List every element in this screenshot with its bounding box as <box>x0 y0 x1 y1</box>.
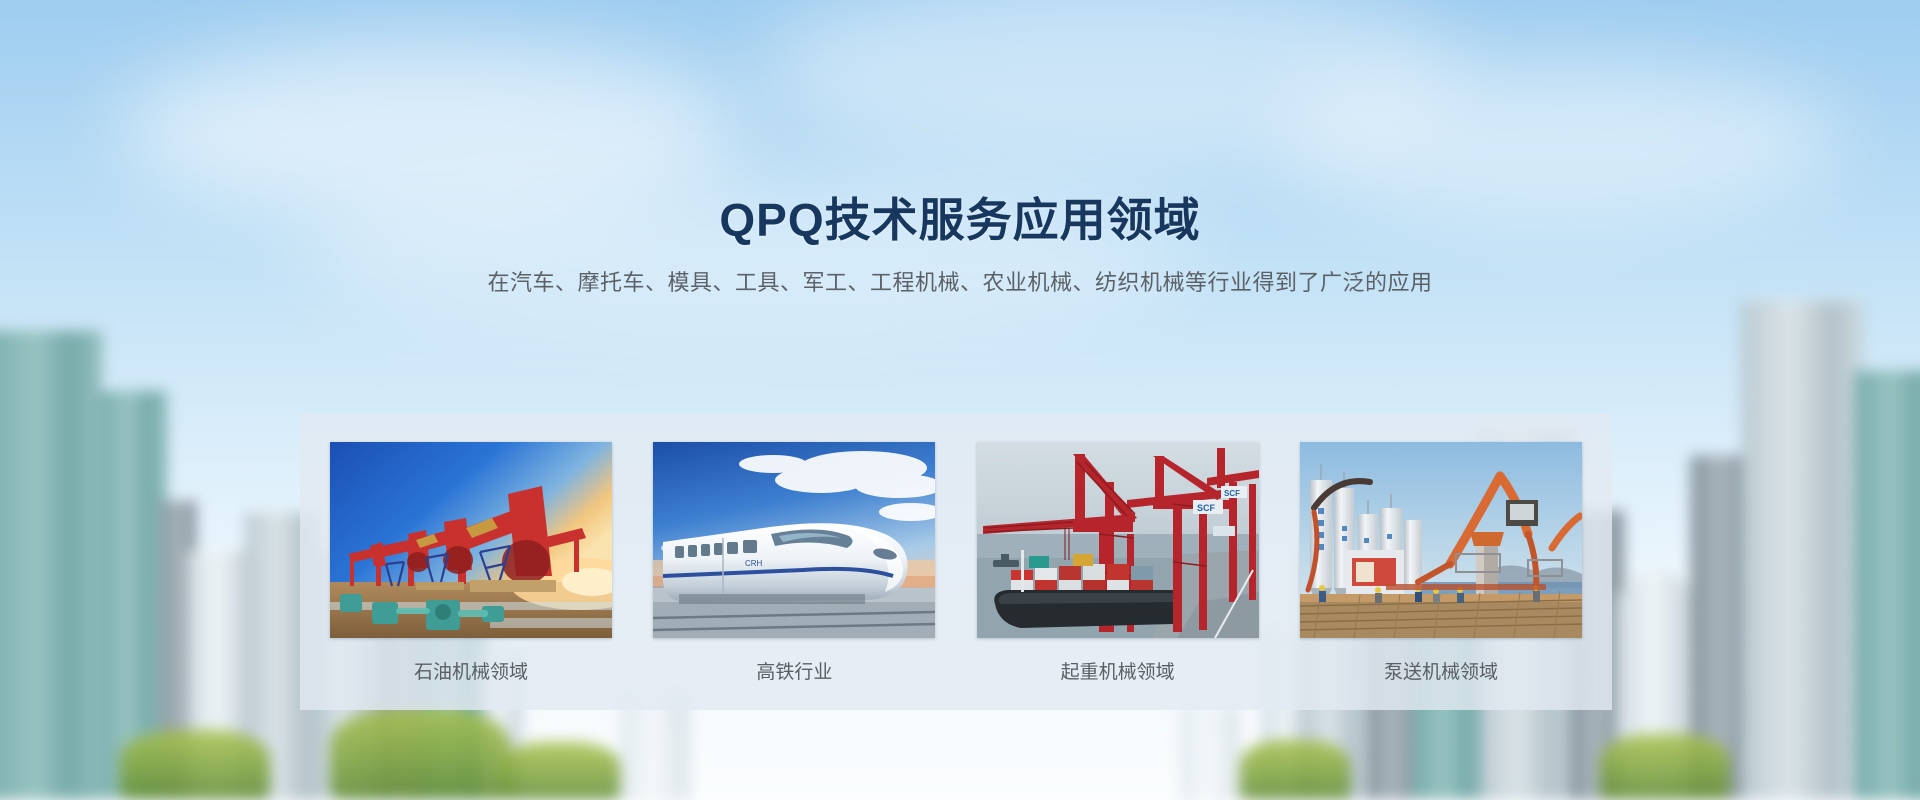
page-subtitle: 在汽车、摩托车、模具、工具、军工、工程机械、农业机械、纺织机械等行业得到了广泛的… <box>0 266 1920 300</box>
application-fields-panel: 石油机械领域 <box>300 414 1612 710</box>
application-card[interactable]: 石油机械领域 <box>330 442 612 686</box>
high-speed-train-photo[interactable]: CRH <box>653 442 935 638</box>
application-card-caption: 起重机械领域 <box>1061 660 1175 686</box>
application-card[interactable]: SCF SCF <box>977 442 1259 686</box>
application-card[interactable]: 泵送机械领域 <box>1300 442 1582 686</box>
application-card-caption: 石油机械领域 <box>414 660 528 686</box>
oil-pumpjacks-photo[interactable] <box>330 442 612 638</box>
port-gantry-cranes-photo[interactable]: SCF SCF <box>977 442 1259 638</box>
svg-text:SCF: SCF <box>1197 503 1216 513</box>
application-card-caption: 泵送机械领域 <box>1384 660 1498 686</box>
svg-text:CRH: CRH <box>745 559 763 568</box>
application-card[interactable]: CRH 高铁行业 <box>653 442 935 686</box>
hero-banner: QPQ技术服务应用领域 在汽车、摩托车、模具、工具、军工、工程机械、农业机械、纺… <box>0 0 1920 800</box>
application-card-caption: 高铁行业 <box>756 660 832 686</box>
svg-text:SCF: SCF <box>1224 489 1240 498</box>
page-title: QPQ技术服务应用领域 <box>0 190 1920 250</box>
cloud-haze <box>760 0 1460 170</box>
concrete-pump-photo[interactable] <box>1300 442 1582 638</box>
